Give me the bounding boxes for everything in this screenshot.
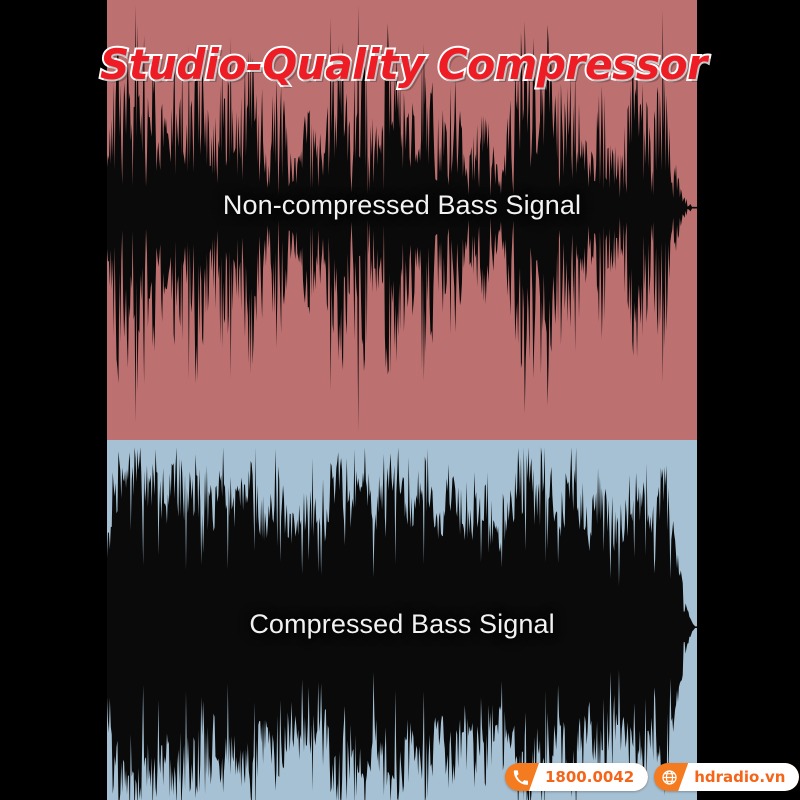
waveform-panel-compressed xyxy=(107,440,697,800)
phone-number-label: 1800.0042 xyxy=(529,763,648,791)
waveform-compressed xyxy=(107,440,697,800)
globe-icon xyxy=(654,763,684,791)
phone-icon xyxy=(505,763,535,791)
phone-badge[interactable]: 1800.0042 xyxy=(505,763,648,791)
image-canvas: Non-compressed Bass Signal Compressed Ba… xyxy=(0,0,800,800)
contact-badge-bar: 1800.0042 hdradio.vn xyxy=(505,763,799,791)
website-label: hdradio.vn xyxy=(678,763,799,791)
website-badge[interactable]: hdradio.vn xyxy=(654,763,799,791)
page-title: Studio-Quality Compressor xyxy=(100,40,721,89)
